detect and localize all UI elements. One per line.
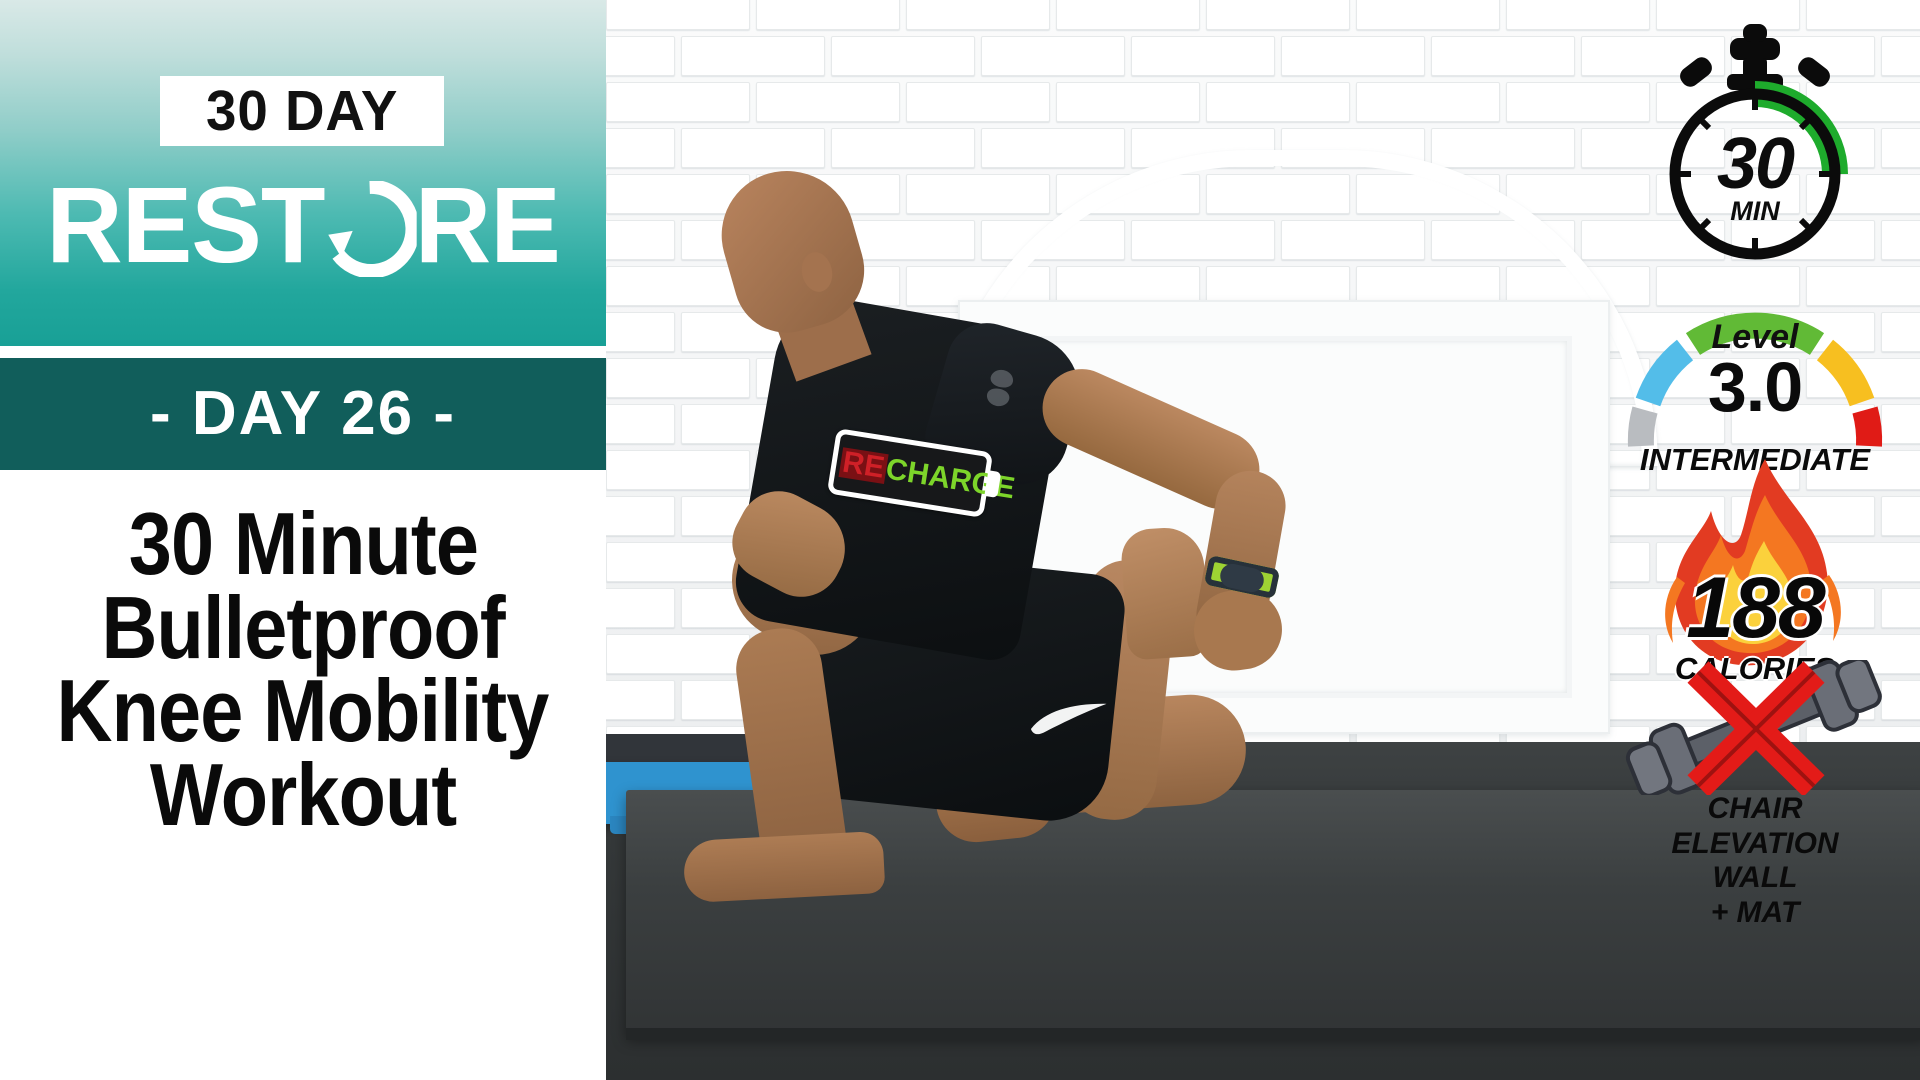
flame-icon: 188 CALORIES (1615, 455, 1895, 685)
brick (681, 36, 825, 76)
workout-title-line-1: 30 Minute (128, 502, 477, 586)
day-number-wrap: - DAY 26 - (0, 358, 606, 470)
program-name-wrap: REST RE (0, 150, 606, 300)
brick (1281, 36, 1425, 76)
level-gauge-icon: Level 3.0 (1621, 278, 1889, 438)
workout-title: 30 Minute Bulletproof Knee Mobility Work… (0, 492, 606, 1052)
brick (606, 542, 750, 582)
workout-title-line-3: Knee Mobility (57, 669, 549, 753)
brick (606, 358, 750, 398)
brick (606, 312, 675, 352)
brick (1356, 82, 1500, 122)
brick (831, 128, 975, 168)
workout-title-line-2: Bulletproof (101, 586, 504, 670)
equipment-badge: CHAIR ELEVATION WALL + MAT (1590, 660, 1920, 928)
brick (1431, 128, 1575, 168)
brick (906, 0, 1050, 30)
refresh-circle-arrow-icon (323, 177, 417, 273)
brick (606, 450, 750, 490)
equipment-line-2: ELEVATION (1590, 829, 1920, 860)
program-name: REST RE (46, 171, 560, 279)
stopwatch-icon: 30 MIN (1635, 16, 1875, 266)
equipment-line-4: + MAT (1590, 898, 1920, 929)
brick (606, 266, 750, 306)
no-dumbbell-icon (1610, 660, 1900, 790)
brick (606, 82, 750, 122)
duration-text: 30 MIN (1635, 128, 1875, 225)
calories-badge: 188 CALORIES (1590, 455, 1920, 685)
thumbnail-canvas: RE CHARGE 30 DAY REST RE (0, 0, 1920, 1080)
level-value: 3.0 (1621, 354, 1889, 421)
brick (1356, 0, 1500, 30)
workout-title-line-4: Workout (150, 753, 456, 837)
brick (1131, 36, 1275, 76)
brick (981, 128, 1125, 168)
brick (756, 82, 900, 122)
duration-value: 30 (1635, 128, 1875, 200)
brick (606, 36, 675, 76)
day-number-label: - DAY 26 - (150, 383, 456, 445)
program-name-part1: REST (46, 171, 324, 279)
brick (606, 404, 675, 444)
brick (981, 36, 1125, 76)
level-text: Level 3.0 (1621, 320, 1889, 421)
calories-value: 188 (1615, 565, 1895, 651)
brick (1056, 0, 1200, 30)
program-duration-label: 30 DAY (206, 83, 398, 140)
brick (906, 82, 1050, 122)
brick (831, 36, 975, 76)
brick (606, 0, 750, 30)
duration-unit: MIN (1635, 198, 1875, 225)
program-duration-badge: 30 DAY (160, 76, 444, 146)
recharge-logo-re: RE (839, 447, 889, 484)
brick (1056, 82, 1200, 122)
brick (906, 174, 1050, 214)
equipment-line-1: CHAIR (1590, 794, 1920, 825)
brick (1206, 82, 1350, 122)
program-name-part2: RE (415, 171, 560, 279)
brick (1206, 0, 1350, 30)
brick (606, 680, 675, 720)
brick (606, 128, 675, 168)
brick (606, 220, 675, 260)
equipment-line-3: WALL (1590, 863, 1920, 894)
brick (1431, 36, 1575, 76)
left-info-panel: 30 DAY REST RE - DAY 26 - 30 Minute Bull… (0, 0, 606, 1080)
brick (606, 634, 750, 674)
level-badge: Level 3.0 INTERMEDIATE (1590, 278, 1920, 478)
brick (606, 588, 675, 628)
front-foot (683, 831, 886, 903)
brick (681, 128, 825, 168)
duration-badge: 30 MIN (1590, 16, 1920, 266)
badge-column: 30 MIN Level 3.0 (1590, 0, 1920, 1080)
nike-swoosh-icon (1027, 697, 1122, 743)
brick (606, 496, 675, 536)
brick (756, 0, 900, 30)
